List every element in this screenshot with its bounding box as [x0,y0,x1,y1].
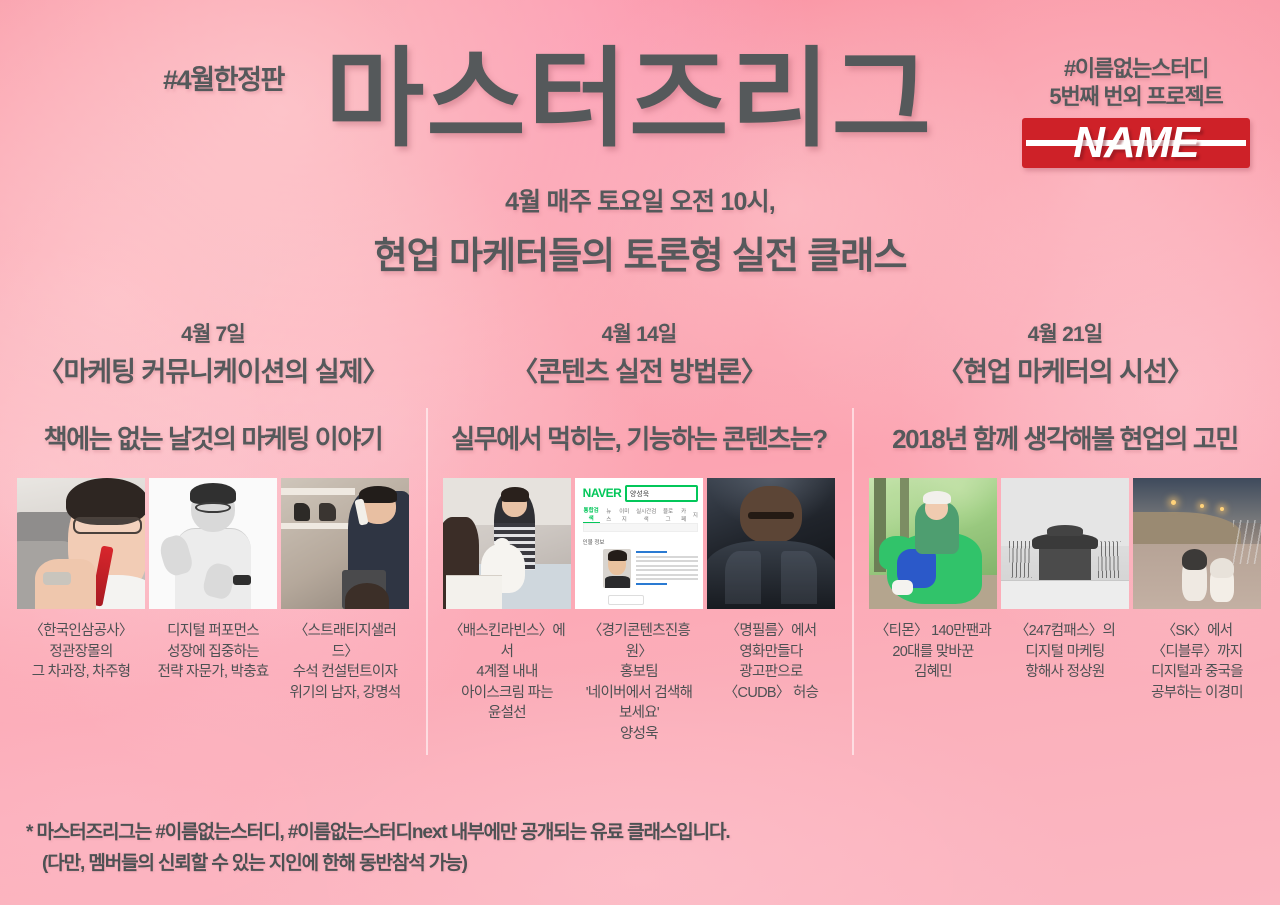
session-theme: 〈현업 마케터의 시선〉 [862,350,1268,389]
session-tagline: 책에는 없는 날것의 마케팅 이야기 [10,419,416,456]
footer-line-1: * 마스터즈리그는 #이름없는스터디, #이름없는스터디next 내부에만 공개… [26,818,730,849]
speaker-photo-strip [862,478,1268,609]
brand-hashtag: #이름없는스터디 [1022,55,1250,83]
meeting-with-plush-toy-photo [443,478,571,609]
man-with-red-stick-photo [17,478,145,609]
name-logo: NAME [1022,118,1250,168]
schedule-line: 4월 매주 토요일 오전 10시, [0,182,1280,218]
session-column-2: 4월 14일 〈콘텐츠 실전 방법론〉 실무에서 먹히는, 기능하는 콘텐츠는?… [426,318,852,744]
naver-search-box: 양성욱 [625,485,698,502]
speaker-photo-strip: NAVER 양성욱 통합검색뉴스이미지실시간검색블로그카페지 인물 정보 [436,478,842,609]
session-date: 4월 21일 [862,318,1268,348]
session-theme: 〈콘텐츠 실전 방법론〉 [436,350,842,389]
speaker-caption: 〈스트래티지샐러드〉수석 컨설턴트이자위기의 남자, 강명석 [281,621,409,703]
footer-note: * 마스터즈리그는 #이름없는스터디, #이름없는스터디next 내부에만 공개… [26,818,730,880]
session-tagline: 2018년 함께 생각해볼 현업의 고민 [862,419,1268,456]
speaker-captions: 〈배스킨라빈스〉에서4계절 내내아이스크림 파는윤설선 〈경기콘텐츠진흥원〉홍보… [436,621,842,744]
page-title: 마스터즈리그 [325,42,933,155]
brand-block: #이름없는스터디 5번째 번외 프로젝트 NAME [1022,55,1250,168]
two-dogs-on-path-photo [1133,478,1261,609]
speaker-caption: 〈배스킨라빈스〉에서4계절 내내아이스크림 파는윤설선 [443,621,571,744]
footer-line-2: (다만, 멤버들의 신뢰할 수 있는 지인에 한해 동반참석 가능) [26,849,730,880]
limited-edition-hashtag: #4월한정판 [163,58,284,97]
speaker-caption: 〈경기콘텐츠진흥원〉홍보팀'네이버에서 검색해보세요'양성욱 [575,621,703,744]
speaker-captions: 〈티몬〉 140만팬과20대를 맞바꾼김혜민 〈247컴패스〉의디지털 마케팅항… [862,621,1268,703]
bw-palace-photo [1001,478,1129,609]
brand-subtitle: 5번째 번외 프로젝트 [1022,83,1250,111]
bw-man-gesturing-photo [149,478,277,609]
naver-search-result-photo: NAVER 양성욱 통합검색뉴스이미지실시간검색블로그카페지 인물 정보 [575,478,703,609]
speaker-caption: 〈티몬〉 140만팬과20대를 맞바꾼김혜민 [869,621,997,703]
session-columns: 4월 7일 〈마케팅 커뮤니케이션의 실제〉 책에는 없는 날것의 마케팅 이야… [0,318,1280,744]
speaker-caption: 〈SK〉에서〈디블루〉까지디지털과 중국을공부하는 이경미 [1133,621,1261,703]
session-theme: 〈마케팅 커뮤니케이션의 실제〉 [10,350,416,389]
subtitle-block: 4월 매주 토요일 오전 10시, 현업 마케터들의 토론형 실전 클래스 [0,182,1280,279]
black-panther-still-photo [707,478,835,609]
speaker-photo-strip [10,478,416,609]
poster-page: #4월한정판 마스터즈리그 #이름없는스터디 5번째 번외 프로젝트 NAME … [0,0,1280,905]
session-tagline: 실무에서 먹히는, 기능하는 콘텐츠는? [436,419,842,456]
class-description: 현업 마케터들의 토론형 실전 클래스 [0,225,1280,279]
session-date: 4월 14일 [436,318,842,348]
office-man-on-phone-photo [281,478,409,609]
woman-in-dinosaur-costume-photo [869,478,997,609]
logo-text: NAME [1022,118,1250,168]
speaker-caption: 〈한국인삼공사〉정관장몰의그 차과장, 차주형 [17,621,145,703]
speaker-captions: 〈한국인삼공사〉정관장몰의그 차과장, 차주형 디지털 퍼포먼스성장에 집중하는… [10,621,416,703]
session-column-1: 4월 7일 〈마케팅 커뮤니케이션의 실제〉 책에는 없는 날것의 마케팅 이야… [0,318,426,744]
speaker-caption: 〈명필름〉에서영화만들다광고판으로〈CUDB〉 허승 [707,621,835,744]
naver-logo: NAVER [583,486,622,500]
session-date: 4월 7일 [10,318,416,348]
speaker-caption: 〈247컴패스〉의디지털 마케팅항해사 정상원 [1001,621,1129,703]
speaker-caption: 디지털 퍼포먼스성장에 집중하는전략 자문가, 박충효 [149,621,277,703]
session-column-3: 4월 21일 〈현업 마케터의 시선〉 2018년 함께 생각해볼 현업의 고민 [852,318,1278,744]
